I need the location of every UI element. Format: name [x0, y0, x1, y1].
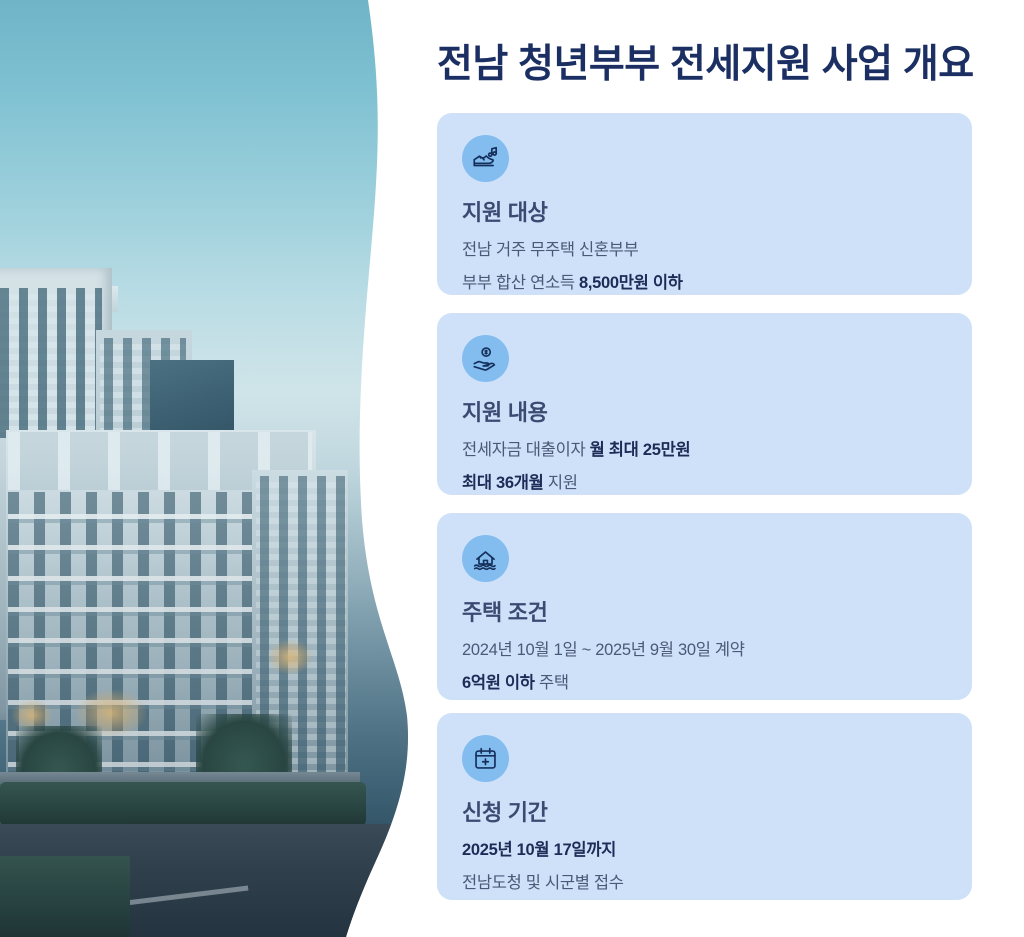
- page-title: 전남 청년부부 전세지원 사업 개요: [437, 33, 972, 89]
- info-card-support-content: 지원 내용 전세자금 대출이자 월 최대 25만원 최대 36개월 지원: [437, 313, 972, 495]
- card-title: 신청 기간: [462, 800, 947, 826]
- card-line: 최대 36개월 지원: [462, 473, 947, 494]
- info-card-application-period: 신청 기간 2025년 10월 17일까지 전남도청 및 시군별 접수: [437, 713, 972, 900]
- card-line: 전세자금 대출이자 월 최대 25만원: [462, 440, 947, 461]
- house-on-water-icon: [462, 535, 509, 582]
- apartment-photo: [0, 0, 420, 937]
- card-title: 지원 대상: [462, 200, 947, 226]
- info-card-support-target: 지원 대상 전남 거주 무주택 신혼부부 부부 합산 연소득 8,500만원 이…: [437, 113, 972, 295]
- card-line: 6억원 이하 주택: [462, 673, 947, 694]
- foreground-shrub: [0, 856, 130, 937]
- infographic-root: 전남 청년부부 전세지원 사업 개요 지원 대상 전남 거주 무주택 신혼부부 …: [0, 0, 1024, 937]
- card-title: 주택 조건: [462, 600, 947, 626]
- card-title: 지원 내용: [462, 400, 947, 426]
- calendar-plus-icon: [462, 735, 509, 782]
- hand-holding-coin-icon: [462, 335, 509, 382]
- content-column: 전남 청년부부 전세지원 사업 개요 지원 대상 전남 거주 무주택 신혼부부 …: [437, 0, 972, 937]
- card-line: 전남도청 및 시군별 접수: [462, 873, 947, 894]
- window-grid-rear: [0, 288, 102, 438]
- info-card-housing-condition: 주택 조건 2024년 10월 1일 ~ 2025년 9월 30일 계약 6억원…: [437, 513, 972, 700]
- card-line: 부부 합산 연소득 8,500만원 이하: [462, 273, 947, 294]
- card-line: 2025년 10월 17일까지: [462, 840, 947, 861]
- card-line: 2024년 10월 1일 ~ 2025년 9월 30일 계약: [462, 640, 947, 661]
- card-line: 전남 거주 무주택 신혼부부: [462, 240, 947, 261]
- photo-sky: [0, 0, 420, 937]
- hedge-row: [0, 782, 366, 826]
- sneaker-music-icon: [462, 135, 509, 182]
